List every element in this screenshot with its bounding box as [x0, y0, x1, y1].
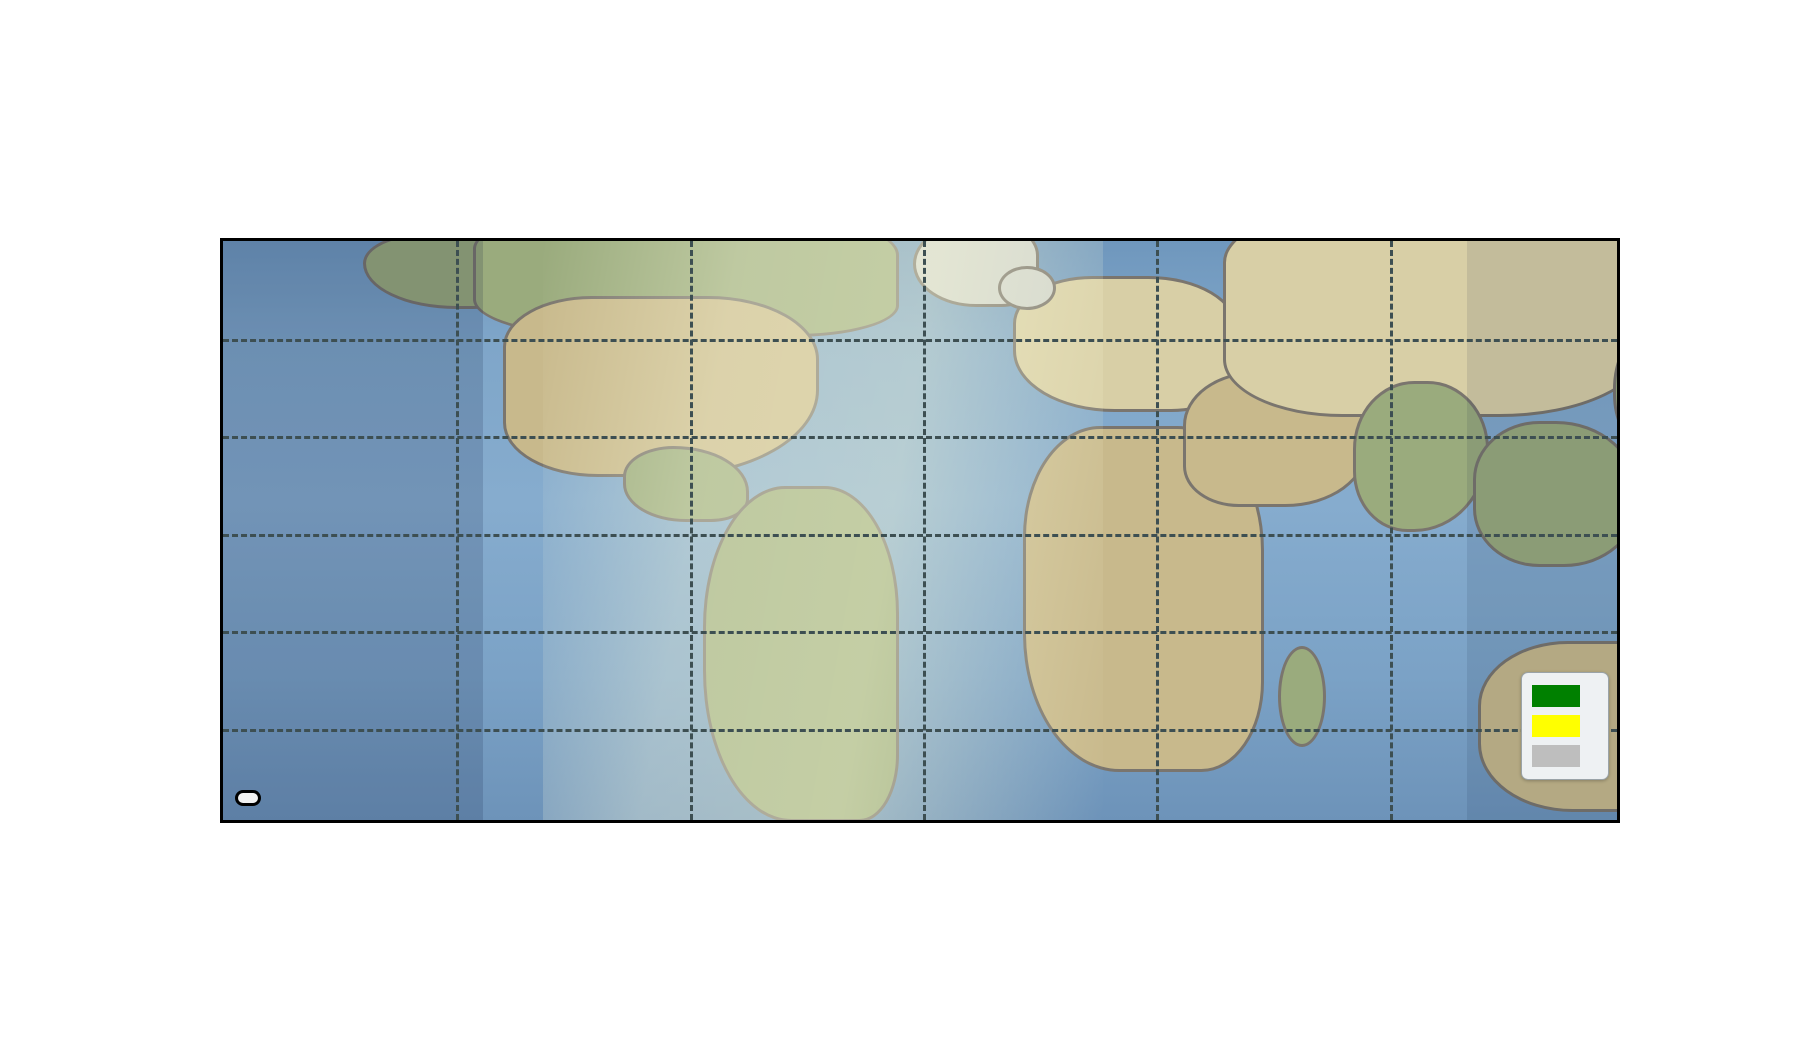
legend — [1521, 672, 1609, 780]
scintillation-band — [223, 241, 1617, 820]
legend-item-probably-clear — [1532, 681, 1594, 711]
frequency-annotation — [235, 790, 261, 806]
legend-swatch-yellow — [1532, 715, 1580, 737]
title-block — [0, 0, 1800, 36]
legend-item-possibly-clear — [1532, 711, 1594, 741]
legend-item-no-specification — [1532, 741, 1594, 771]
map-plot-area[interactable] — [220, 238, 1620, 823]
legend-swatch-green — [1532, 685, 1580, 707]
scintillation-map-page — [0, 0, 1800, 1050]
legend-swatch-gray — [1532, 745, 1580, 767]
